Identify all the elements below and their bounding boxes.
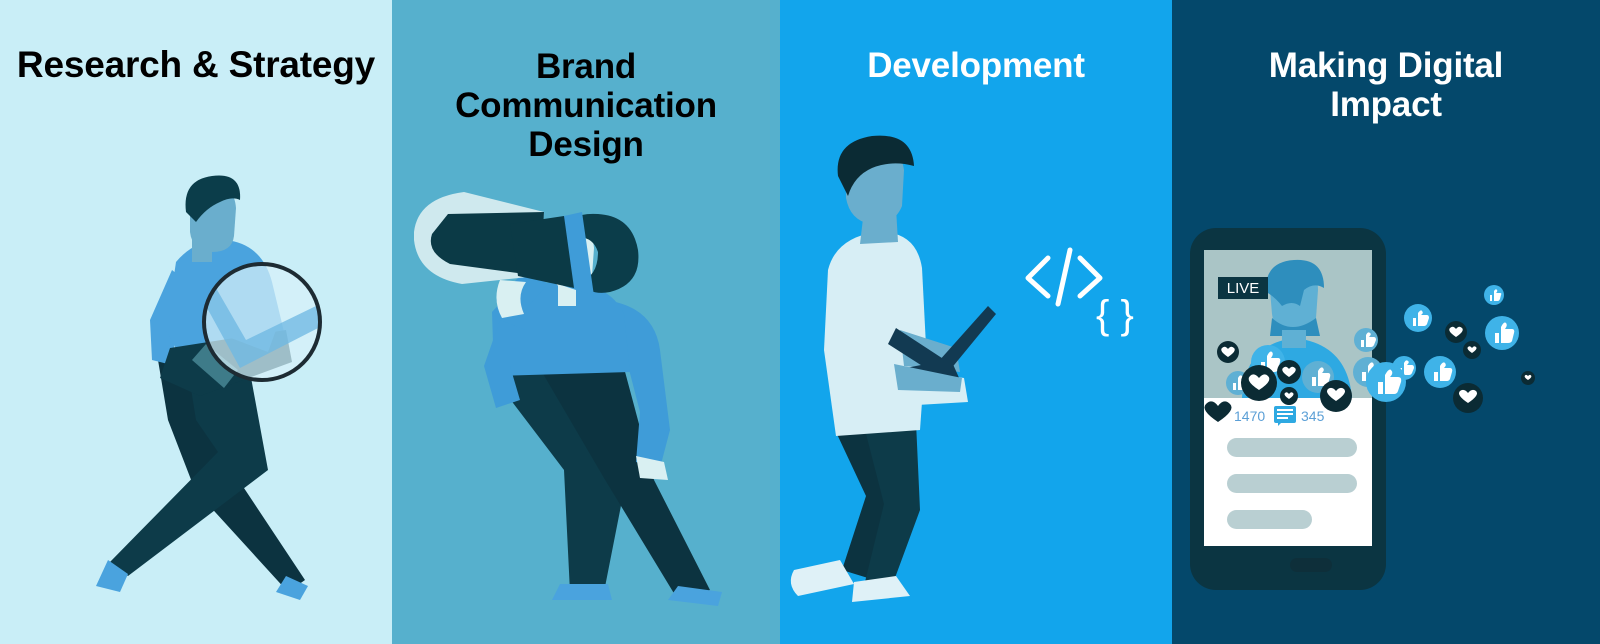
speech-bubble-icon xyxy=(1274,406,1296,426)
developer-neck xyxy=(860,208,898,244)
panel-title-making-digital-impact: Making Digital Impact xyxy=(1172,46,1600,124)
panel-making-digital-impact[interactable]: LIVE xyxy=(1172,0,1600,644)
placeholder-line xyxy=(1227,474,1357,493)
woman-trousers xyxy=(488,368,710,600)
floating-reactions xyxy=(1366,285,1535,413)
code-tag-symbol xyxy=(1028,250,1100,304)
illustration-developer-with-laptop: { } xyxy=(780,0,1172,644)
like-count: 1470 xyxy=(1234,408,1265,424)
panel-development[interactable]: { } Development xyxy=(780,0,1172,644)
panel-research-strategy[interactable]: Research & Strategy xyxy=(0,0,392,644)
developer-trousers xyxy=(836,422,920,586)
person-legs xyxy=(110,360,305,592)
illustration-person-with-magnifying-glass xyxy=(0,0,392,644)
placeholder-line xyxy=(1227,438,1357,457)
woman-right-hand xyxy=(636,456,668,480)
panel-title-brand-communication-design: Brand Communication Design xyxy=(392,47,780,165)
four-panel-service-banner: Research & Strategy xyxy=(0,0,1600,644)
panel-brand-communication-design[interactable]: Brand Communication Design xyxy=(392,0,780,644)
placeholder-line xyxy=(1227,510,1312,529)
home-button xyxy=(1290,558,1332,572)
panel-title-research-strategy: Research & Strategy xyxy=(0,44,392,85)
panel-title-development: Development xyxy=(780,46,1172,85)
comment-count: 345 xyxy=(1301,408,1325,424)
live-badge: LIVE xyxy=(1218,277,1268,299)
live-badge-label: LIVE xyxy=(1227,280,1260,297)
curly-braces-symbol: { } xyxy=(1096,293,1134,337)
